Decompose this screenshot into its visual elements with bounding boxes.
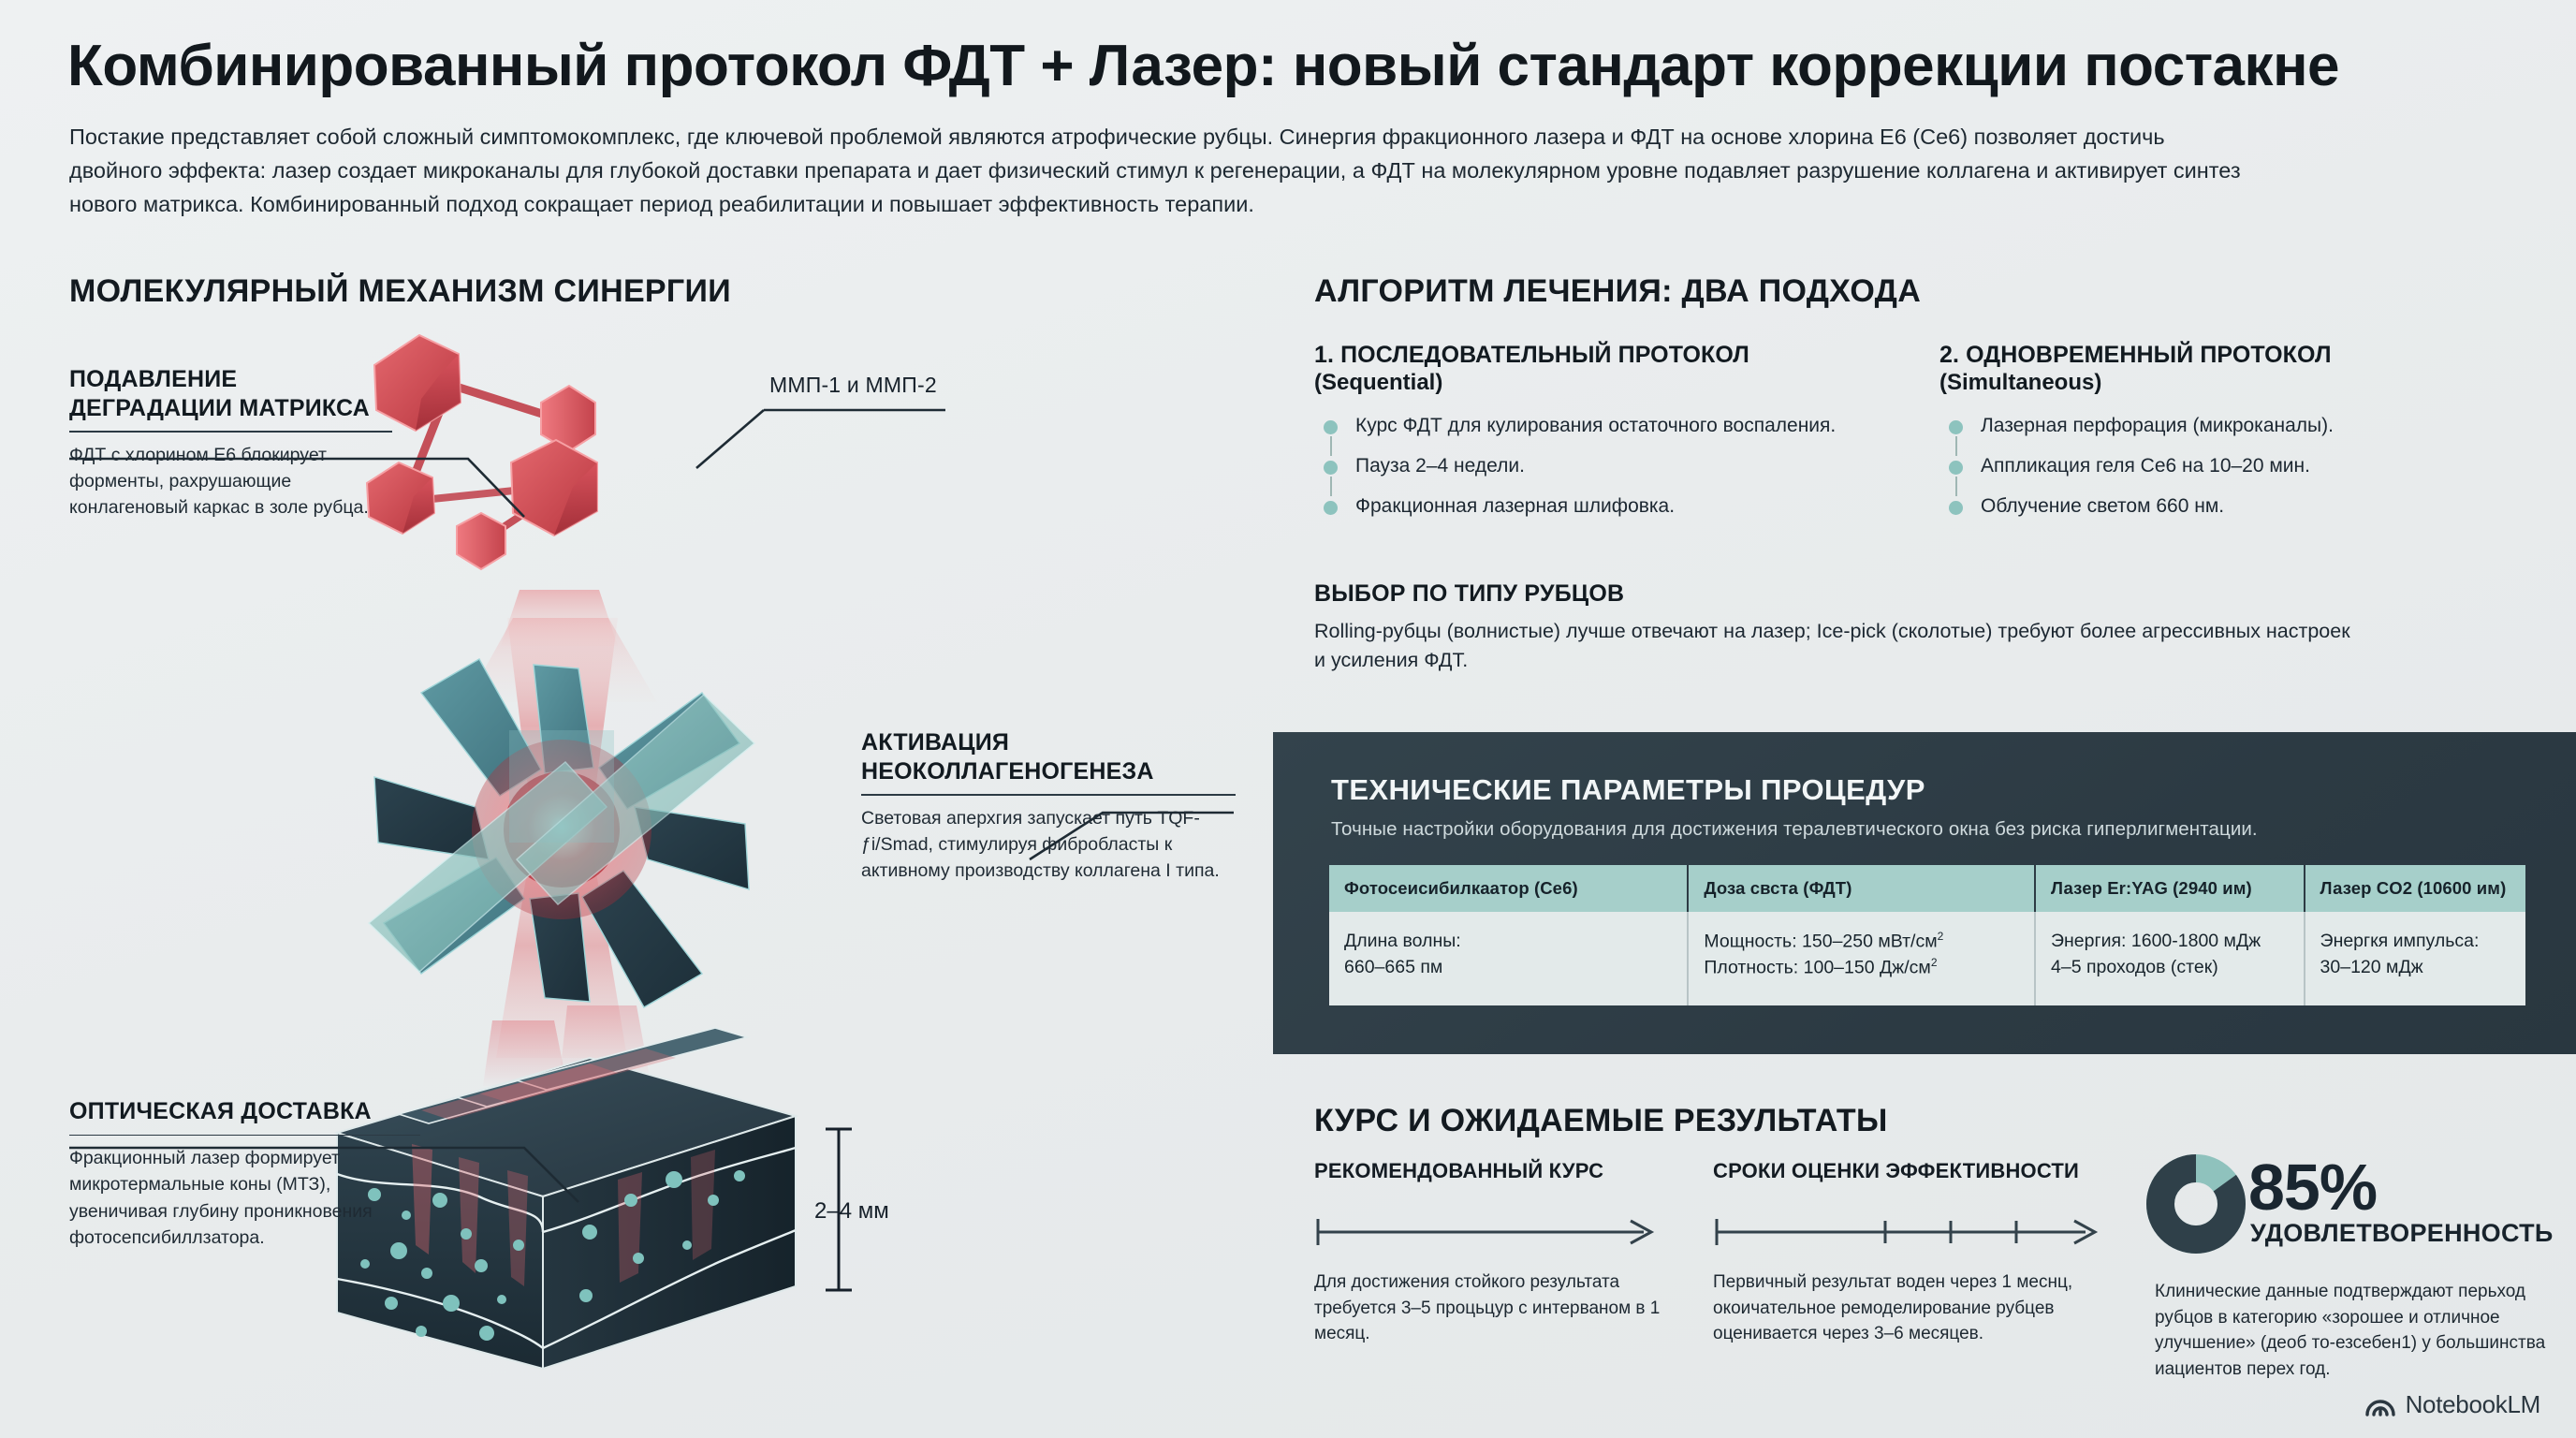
cell-sup: 2 [1931, 956, 1938, 969]
callout-neocollagenogenesis: АКТИВАЦИЯ НЕОКОЛЛАГЕНОГЕНЕЗА Световая ап… [861, 728, 1236, 884]
neocollagen-star [369, 659, 754, 1007]
list-item: Облучение светом 660 нм. [1939, 493, 2520, 520]
list-item: Курс ФДТ для кулирования остаточного вос… [1314, 413, 1876, 439]
callout-optical-delivery: ОПТИЧЕСКАЯ ДОСТАВКА Фракционный лазер фо… [69, 1097, 420, 1251]
scar-type-selection: ВЫБОР ПО ТИПУ РУБЦОВ Rolling-рубцы (волн… [1314, 580, 2363, 674]
table-header-row: Фотосеисибилкаатор (Ce6) Доза свста (ФДТ… [1329, 865, 2525, 912]
page-title: Комбинированный протокол ФДТ + Лазер: но… [67, 36, 2510, 97]
cell-line: Мощность: 150–250 мВт/см [1704, 932, 1937, 952]
result-heading: СРОКИ ОЦЕНКИ ЭФФЕКТИВНОСТИ [1713, 1159, 2125, 1183]
column-header: Доза свста (ФДТ) [1688, 865, 2035, 912]
cell-line: 660–665 пм [1344, 957, 1442, 977]
cell-line: 30–120 мДж [2320, 957, 2423, 977]
callout-title: АКТИВАЦИЯ НЕОКОЛЛАГЕНОГЕНЕЗА [861, 728, 1236, 785]
list-item: Аппликация геля Ce6 на 10–20 мин. [1939, 453, 2520, 479]
table-row: Длина волны: 660–665 пм Мощность: 150–25… [1329, 912, 2525, 1005]
protocol-subtitle: (Simultaneous) [1939, 370, 2520, 396]
protocol-sequential: 1. ПОСЛЕДОВАТЕЛЬНЫЙ ПРОТОКОЛ (Sequential… [1314, 341, 1876, 534]
notebooklm-watermark: NotebookLM [2364, 1390, 2540, 1419]
protocol-title: 2. ОДНОВРЕМЕННЫЙ ПРОТОКОЛ [1939, 341, 2520, 370]
callout-rule [861, 794, 1236, 796]
course-timeline-arrow [1314, 1213, 1662, 1256]
cell-co2: Энергкя импульса: 30–120 мДж [2305, 912, 2525, 1005]
protocol-title: 1. ПОСЛЕДОВАТЕЛЬНЫЙ ПРОТОКОЛ [1314, 341, 1876, 370]
molecule-label-mmp: ММП-1 и ММП-2 [769, 373, 937, 398]
scar-type-title: ВЫБОР ПО ТИПУ РУБЦОВ [1314, 580, 2363, 608]
protocol-steps-list: Лазерная перфорация (микроканалы). Аппли… [1939, 413, 2520, 520]
cell-sup: 2 [1938, 930, 1944, 943]
callout-title: ПОДАВЛЕНИЕ ДЕГРАДАЦИИ МАТРИКСА [69, 365, 392, 422]
callout-title: ОПТИЧЕСКАЯ ДОСТАВКА [69, 1097, 420, 1126]
watermark-text: NotebookLM [2406, 1390, 2540, 1419]
section-heading-results: КУРС И ОЖИДАЕМЫЕ РЕЗУЛЬТАТЫ [1314, 1103, 1888, 1139]
infographic-page: Комбинированный протокол ФДТ + Лазер: но… [0, 0, 2576, 1438]
tech-panel-subtitle: Точные настройки оборудования для достиж… [1331, 818, 2258, 841]
depth-label: 2–4 мм [814, 1198, 889, 1225]
cell-line: 4–5 проходов (стек) [2051, 957, 2218, 977]
result-recommended-course: РЕКОМЕНДОВАННЫЙ КУРС [1314, 1159, 1679, 1183]
cell-line: Энергкя импульса: [2320, 931, 2480, 951]
scar-type-body: Rolling-рубцы (волнистые) лучше отвечают… [1314, 617, 2363, 674]
satisfaction-percent: 85% [2248, 1150, 2377, 1225]
cell-eryag: Энергия: 1600-1800 мДж 4–5 проходов (сте… [2035, 912, 2305, 1005]
column-header: Фотосеисибилкаатор (Ce6) [1329, 865, 1688, 912]
callout-body: Световая аперхгия запускает путь TQF-ƒi/… [861, 805, 1236, 885]
evaluation-timeline-arrow [1713, 1213, 2104, 1256]
list-item: Пауза 2–4 недели. [1314, 453, 1876, 479]
list-item: Лазерная перфорация (микроканалы). [1939, 413, 2520, 439]
technical-parameters-panel: ТЕХНИЧЕСКИЕ ПАРАМЕТРЫ ПРОЦЕДУР Точные на… [1273, 732, 2576, 1054]
molecule-cluster [367, 335, 597, 569]
column-header: Лазер Er:YAG (2940 им) [2035, 865, 2305, 912]
result-heading: РЕКОМЕНДОВАННЫЙ КУРС [1314, 1159, 1679, 1183]
section-heading-algorithm: АЛГОРИТМ ЛЕЧЕНИЯ: ДВА ПОДХОДА [1314, 273, 1921, 310]
result-body: Для достижения стойкого результата требу… [1314, 1269, 1681, 1347]
result-body: Первичный результат воден через 1 меснц,… [1713, 1269, 2134, 1347]
result-evaluation-timeline: СРОКИ ОЦЕНКИ ЭФФЕКТИВНОСТИ [1713, 1159, 2125, 1183]
protocol-steps-list: Курс ФДТ для кулирования остаточного вос… [1314, 413, 1876, 520]
result-body: Клинические данные подтверждают перьход … [2155, 1279, 2559, 1382]
callout-body: ФДТ с хлорином E6 блокирует форменты, ра… [69, 442, 392, 521]
satisfaction-label: УДОВЛЕТВОРЕННОСТЬ [2250, 1219, 2554, 1248]
notebooklm-logo-icon [2364, 1393, 2396, 1417]
tech-panel-title: ТЕХНИЧЕСКИЕ ПАРАМЕТРЫ ПРОЦЕДУР [1331, 773, 1925, 807]
callout-matrix-degradation: ПОДАВЛЕНИЕ ДЕГРАДАЦИИ МАТРИКСА ФДТ с хло… [69, 365, 392, 521]
cell-line: Энергия: 1600-1800 мДж [2051, 931, 2261, 951]
list-item: Фракционная лазерная шлифовка. [1314, 493, 1876, 520]
tech-parameters-table: Фотосеисибилкаатор (Ce6) Доза свста (ФДТ… [1329, 865, 2525, 1005]
column-header: Лазер CO2 (10600 им) [2305, 865, 2525, 912]
section-heading-mechanism: МОЛЕКУЛЯРНЫЙ МЕХАНИЗМ СИНЕРГИИ [69, 273, 731, 310]
cell-light-dose: Мощность: 150–250 мВт/см2 Плотность: 100… [1688, 912, 2035, 1005]
cell-line: Плотность: 100–150 Дж/см [1704, 958, 1930, 978]
cell-photosensitizer: Длина волны: 660–665 пм [1329, 912, 1688, 1005]
intro-paragraph: Постакие представляет собой сложный симп… [69, 120, 2250, 222]
callout-rule [69, 1135, 420, 1137]
callout-rule [69, 431, 392, 433]
protocol-subtitle: (Sequential) [1314, 370, 1876, 396]
protocol-simultaneous: 2. ОДНОВРЕМЕННЫЙ ПРОТОКОЛ (Simultaneous)… [1939, 341, 2520, 534]
cell-line: Длина волны: [1344, 931, 1461, 951]
satisfaction-donut-chart [2145, 1153, 2247, 1255]
callout-body: Фракционный лазер формирует микротермаль… [69, 1145, 420, 1251]
